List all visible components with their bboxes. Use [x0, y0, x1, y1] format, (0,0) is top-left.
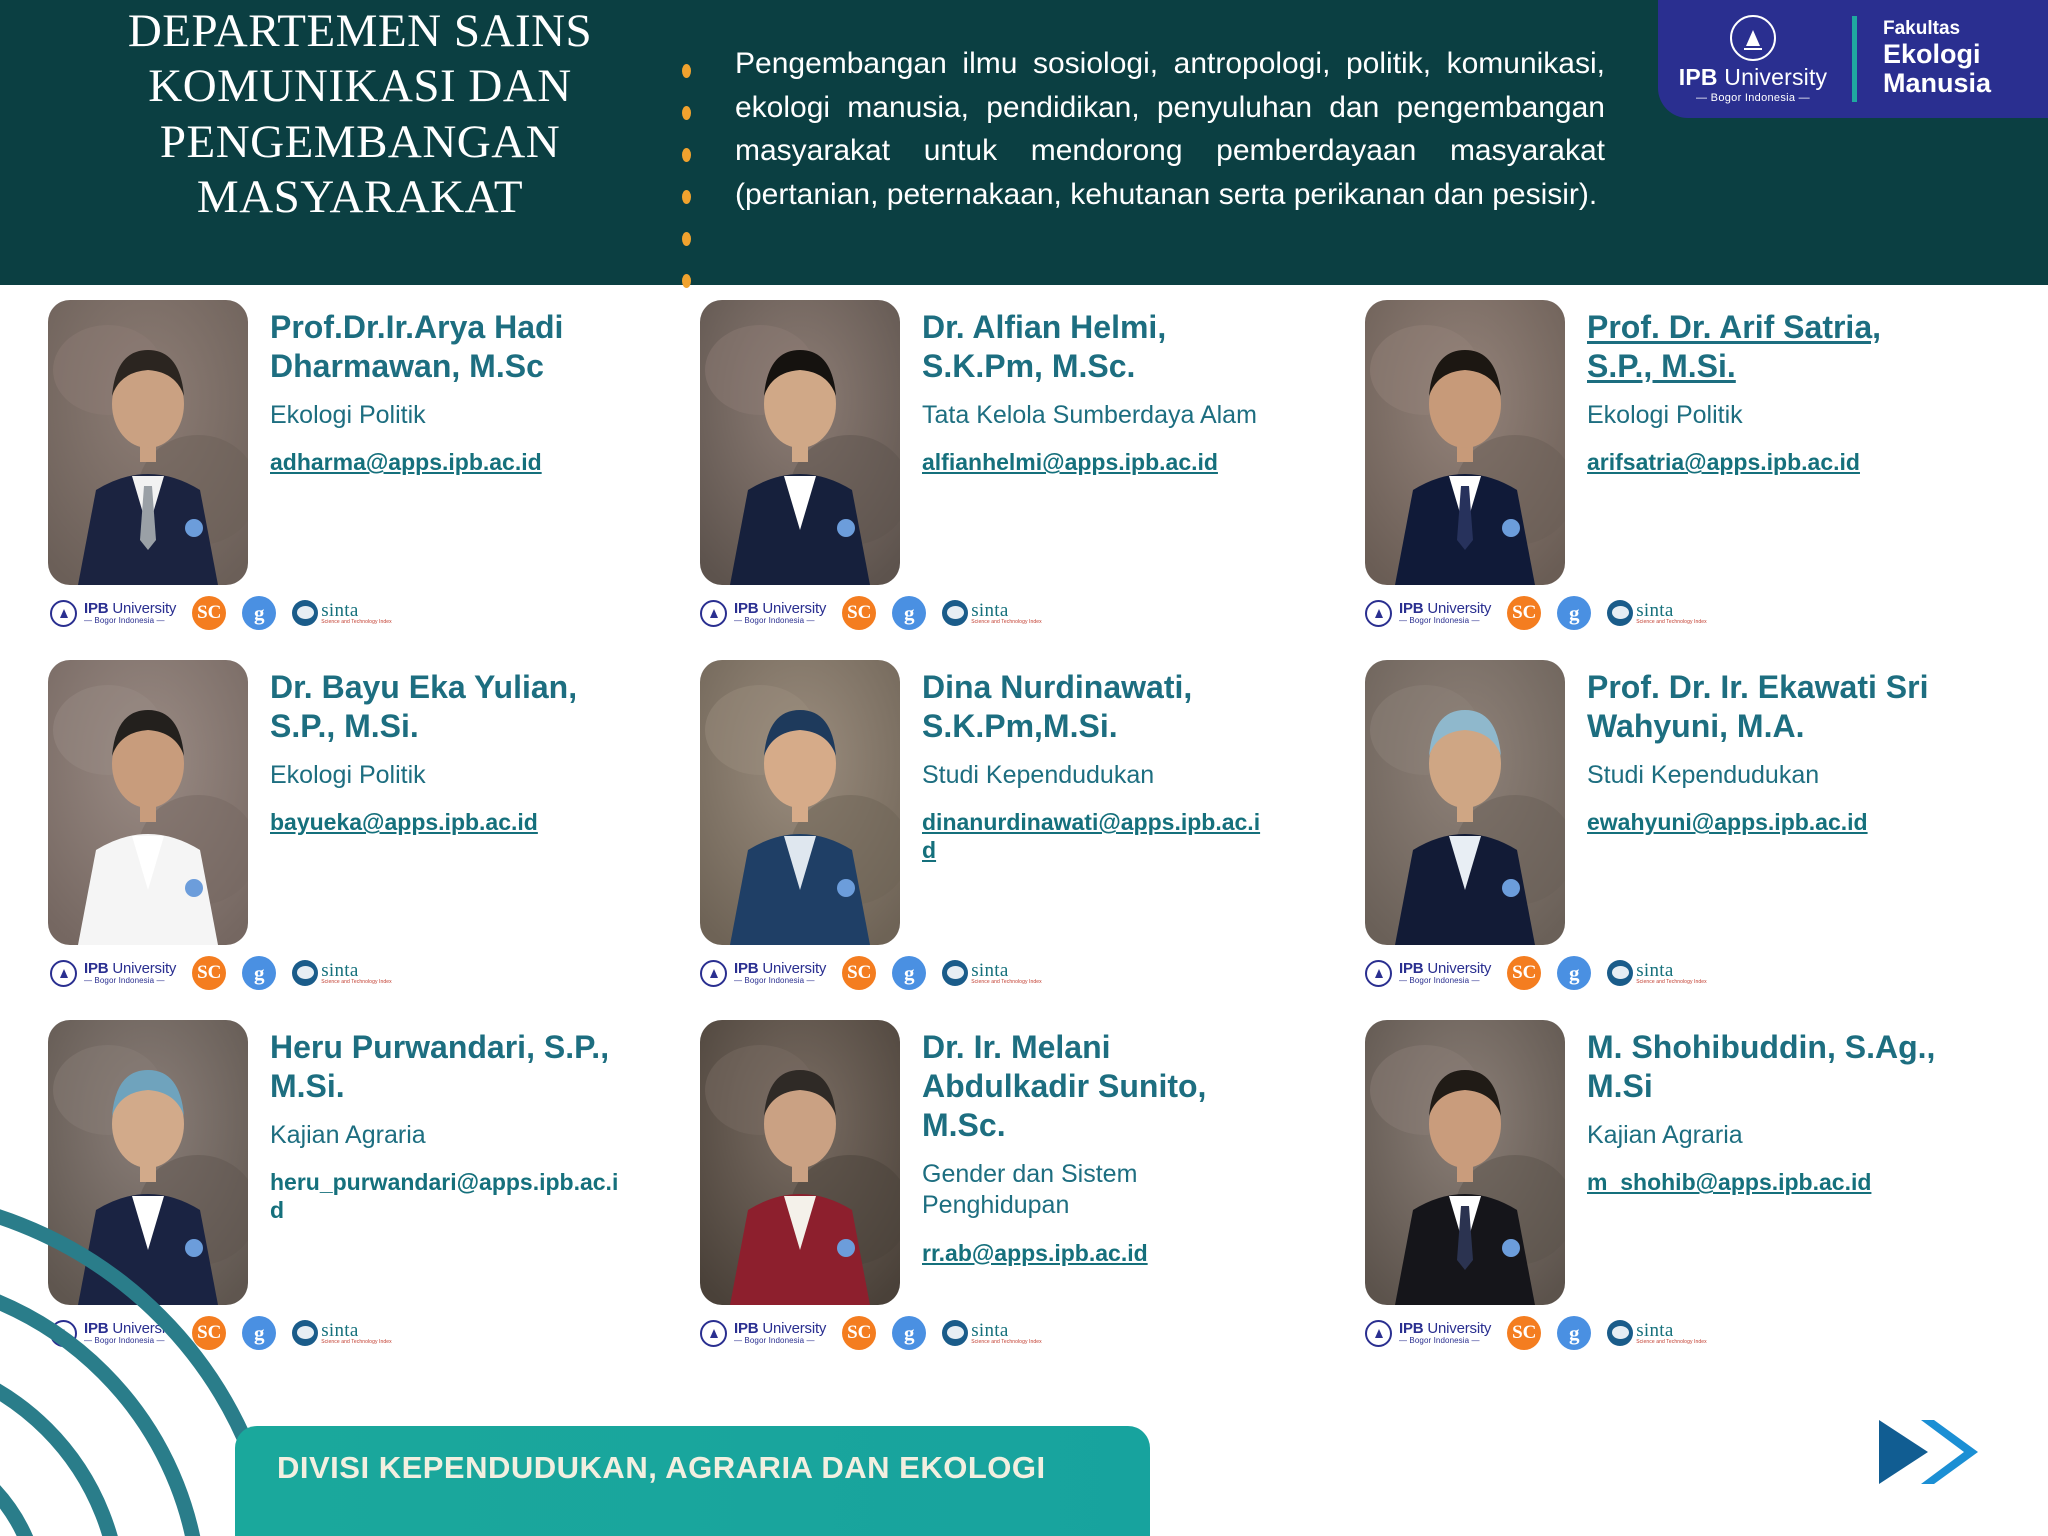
faculty-field: Kajian Agraria — [1587, 1120, 1937, 1151]
ipb-badge-bold: IPB — [1399, 960, 1423, 977]
page-title: DEPARTEMEN SAINS KOMUNIKASI DAN PENGEMBA… — [60, 4, 660, 226]
ipb-badge-bold: IPB — [1399, 600, 1423, 617]
bullet-dot-icon — [682, 64, 691, 78]
faculty-photo — [700, 660, 900, 945]
ipb-badge-sub: — Bogor Indonesia — — [734, 617, 826, 625]
faculty-email[interactable]: rr.ab@apps.ipb.ac.id — [922, 1240, 1272, 1268]
ipb-faculty-logo: IPB University — Bogor Indonesia — Fakul… — [1658, 0, 2048, 118]
faculty-card[interactable]: Dr. Bayu Eka Yulian, S.P., M.Si. Ekologi… — [48, 660, 620, 945]
faculty-row: Prof.Dr.Ir.Arya Hadi Dharmawan, M.Sc Eko… — [0, 300, 2048, 660]
double-arrow-icon — [1871, 1414, 1986, 1490]
sinta-sub: Science and Technology Index — [1636, 980, 1707, 985]
sinta-label: sinta — [321, 962, 392, 980]
faculty-name: Dr. Ir. Melani Abdulkadir Sunito, M.Sc. — [922, 1028, 1272, 1145]
google-scholar-icon[interactable]: g — [1557, 596, 1591, 630]
faculty-field: Studi Kependudukan — [922, 760, 1272, 791]
ipb-seal-icon — [700, 600, 727, 627]
profile-links: IPB University — Bogor Indonesia — SC g … — [50, 956, 392, 990]
ipb-badge-sub: — Bogor Indonesia — — [1399, 617, 1491, 625]
profile-links: IPB University — Bogor Indonesia — SC g … — [50, 596, 392, 630]
sinta-label: sinta — [321, 602, 392, 620]
ipb-seal-icon — [700, 1320, 727, 1347]
sinta-icon — [1607, 1320, 1633, 1346]
faculty-line-manusia: Manusia — [1883, 69, 1991, 99]
bullet-dot-icon — [682, 190, 691, 204]
sinta-icon — [1607, 600, 1633, 626]
ipb-seal-icon — [50, 600, 77, 627]
faculty-photo — [48, 300, 248, 585]
faculty-field: Ekologi Politik — [270, 760, 620, 791]
ipb-badge-light: University — [112, 600, 176, 617]
faculty-field: Tata Kelola Sumberdaya Alam — [922, 400, 1272, 431]
google-scholar-icon[interactable]: g — [892, 1316, 926, 1350]
ipb-badge-light: University — [1427, 1320, 1491, 1337]
bullet-dot-icon — [682, 148, 691, 162]
faculty-photo — [700, 300, 900, 585]
faculty-email[interactable]: alfianhelmi@apps.ipb.ac.id — [922, 449, 1272, 477]
sinta-icon — [942, 600, 968, 626]
sinta-link[interactable]: sinta Science and Technology Index — [1607, 600, 1707, 626]
sinta-link[interactable]: sinta Science and Technology Index — [292, 600, 392, 626]
faculty-name: Prof.Dr.Ir.Arya Hadi Dharmawan, M.Sc — [270, 308, 620, 386]
profile-links: IPB University — Bogor Indonesia — SC g … — [700, 956, 1042, 990]
profile-links: IPB University — Bogor Indonesia — SC g … — [700, 1316, 1042, 1350]
faculty-info: Dr. Alfian Helmi, S.K.Pm, M.Sc. Tata Kel… — [922, 300, 1272, 585]
ipb-badge-sub: — Bogor Indonesia — — [1399, 977, 1491, 985]
ipb-profile-link[interactable]: IPB University — Bogor Indonesia — — [50, 600, 176, 627]
ipb-badge-bold: IPB — [84, 600, 108, 617]
faculty-photo — [1365, 300, 1565, 585]
sinta-sub: Science and Technology Index — [1636, 1340, 1707, 1345]
bullet-list-markers — [682, 64, 691, 288]
faculty-field: Ekologi Politik — [270, 400, 620, 431]
ipb-university-name: IPB University — [1679, 64, 1828, 91]
faculty-card[interactable]: Prof.Dr.Ir.Arya Hadi Dharmawan, M.Sc Eko… — [48, 300, 620, 585]
sinta-link[interactable]: sinta Science and Technology Index — [942, 600, 1042, 626]
faculty-info: M. Shohibuddin, S.Ag., M.Si Kajian Agrar… — [1587, 1020, 1937, 1305]
faculty-field: Studi Kependudukan — [1587, 760, 1937, 791]
faculty-card[interactable]: Prof. Dr. Arif Satria, S.P., M.Si. Ekolo… — [1365, 300, 1937, 585]
division-banner: DIVISI KEPENDUDUKAN, AGRARIA DAN EKOLOGI — [235, 1426, 1150, 1536]
bullet-dot-icon — [682, 274, 691, 288]
sinta-icon — [292, 960, 318, 986]
profile-links: IPB University — Bogor Indonesia — SC g … — [1365, 596, 1707, 630]
ipb-profile-link[interactable]: IPB University — Bogor Indonesia — — [700, 1320, 826, 1347]
faculty-email[interactable]: adharma@apps.ipb.ac.id — [270, 449, 620, 477]
ipb-badge-bold: IPB — [734, 600, 758, 617]
scopus-icon[interactable]: SC — [1507, 956, 1541, 990]
sinta-sub: Science and Technology Index — [1636, 620, 1707, 625]
sinta-label: sinta — [971, 602, 1042, 620]
sinta-link[interactable]: sinta Science and Technology Index — [1607, 960, 1707, 986]
scopus-icon[interactable]: SC — [1507, 1316, 1541, 1350]
ipb-seal-icon — [1365, 960, 1392, 987]
ipb-badge-sub: — Bogor Indonesia — — [734, 977, 826, 985]
faculty-card[interactable]: Dina Nurdinawati, S.K.Pm,M.Si. Studi Kep… — [700, 660, 1272, 945]
google-scholar-icon[interactable]: g — [1557, 1316, 1591, 1350]
sinta-sub: Science and Technology Index — [971, 980, 1042, 985]
page-header: DEPARTEMEN SAINS KOMUNIKASI DAN PENGEMBA… — [0, 0, 2048, 285]
ipb-seal-icon — [1730, 15, 1776, 61]
faculty-name: Fakultas Ekologi Manusia — [1883, 19, 1991, 99]
profile-links: IPB University — Bogor Indonesia — SC g … — [1365, 956, 1707, 990]
ipb-profile-link[interactable]: IPB University — Bogor Indonesia — — [50, 960, 176, 987]
ipb-badge-bold: IPB — [84, 960, 108, 977]
ipb-profile-link[interactable]: IPB University — Bogor Indonesia — — [700, 600, 826, 627]
profile-links: IPB University — Bogor Indonesia — SC g … — [700, 596, 1042, 630]
google-scholar-icon[interactable]: g — [1557, 956, 1591, 990]
ipb-profile-link[interactable]: IPB University — Bogor Indonesia — — [1365, 600, 1491, 627]
ipb-university-tagline: — Bogor Indonesia — — [1696, 92, 1810, 104]
sinta-label: sinta — [1636, 1322, 1707, 1340]
faculty-name: Heru Purwandari, S.P., M.Si. — [270, 1028, 620, 1106]
faculty-email[interactable]: bayueka@apps.ipb.ac.id — [270, 809, 620, 837]
ipb-profile-link[interactable]: IPB University — Bogor Indonesia — — [1365, 960, 1491, 987]
ipb-seal-icon — [1365, 1320, 1392, 1347]
faculty-info: Prof.Dr.Ir.Arya Hadi Dharmawan, M.Sc Eko… — [270, 300, 620, 585]
ipb-profile-link[interactable]: IPB University — Bogor Indonesia — — [700, 960, 826, 987]
ipb-badge-light: University — [1427, 960, 1491, 977]
faculty-line-ekologi: Ekologi — [1883, 40, 1991, 70]
sinta-link[interactable]: sinta Science and Technology Index — [942, 1320, 1042, 1346]
faculty-card[interactable]: Prof. Dr. Ir. Ekawati Sri Wahyuni, M.A. … — [1365, 660, 1937, 945]
google-scholar-icon[interactable]: g — [892, 956, 926, 990]
google-scholar-icon[interactable]: g — [242, 596, 276, 630]
ipb-badge-light: University — [762, 600, 826, 617]
google-scholar-icon[interactable]: g — [892, 596, 926, 630]
ipb-badge-bold: IPB — [734, 1320, 758, 1337]
scopus-icon[interactable]: SC — [842, 596, 876, 630]
ipb-badge-light: University — [762, 1320, 826, 1337]
ipb-badge-sub: — Bogor Indonesia — — [84, 617, 176, 625]
faculty-card[interactable]: M. Shohibuddin, S.Ag., M.Si Kajian Agrar… — [1365, 1020, 1937, 1305]
sinta-sub: Science and Technology Index — [971, 620, 1042, 625]
sinta-label: sinta — [971, 1322, 1042, 1340]
faculty-info: Dr. Ir. Melani Abdulkadir Sunito, M.Sc. … — [922, 1020, 1272, 1305]
ipb-badge-light: University — [762, 960, 826, 977]
sinta-label: sinta — [1636, 602, 1707, 620]
sinta-icon — [1607, 960, 1633, 986]
sinta-icon — [292, 600, 318, 626]
sinta-label: sinta — [1636, 962, 1707, 980]
scopus-icon[interactable]: SC — [842, 1316, 876, 1350]
sinta-link[interactable]: sinta Science and Technology Index — [942, 960, 1042, 986]
sinta-sub: Science and Technology Index — [971, 1340, 1042, 1345]
faculty-name: Prof. Dr. Arif Satria, S.P., M.Si. — [1587, 308, 1937, 386]
infographic-page: DEPARTEMEN SAINS KOMUNIKASI DAN PENGEMBA… — [0, 0, 2048, 1536]
faculty-name: Dr. Bayu Eka Yulian, S.P., M.Si. — [270, 668, 620, 746]
faculty-card[interactable]: Dr. Ir. Melani Abdulkadir Sunito, M.Sc. … — [700, 1020, 1272, 1305]
scopus-icon[interactable]: SC — [1507, 596, 1541, 630]
faculty-label: Fakultas — [1883, 19, 1991, 40]
faculty-name: Dr. Alfian Helmi, S.K.Pm, M.Sc. — [922, 308, 1272, 386]
ipb-badge-sub: — Bogor Indonesia — — [84, 977, 176, 985]
ipb-badge-bold: IPB — [734, 960, 758, 977]
faculty-email[interactable]: ewahyuni@apps.ipb.ac.id — [1587, 809, 1937, 837]
faculty-email[interactable]: m_shohib@apps.ipb.ac.id — [1587, 1169, 1937, 1197]
profile-links: IPB University — Bogor Indonesia — SC g … — [1365, 1316, 1707, 1350]
faculty-name: Prof. Dr. Ir. Ekawati Sri Wahyuni, M.A. — [1587, 668, 1937, 746]
ipb-seal-icon — [50, 960, 77, 987]
faculty-info: Prof. Dr. Ir. Ekawati Sri Wahyuni, M.A. … — [1587, 660, 1937, 945]
ipb-badge-light: University — [112, 960, 176, 977]
bullet-dot-icon — [682, 232, 691, 246]
sinta-link[interactable]: sinta Science and Technology Index — [1607, 1320, 1707, 1346]
ipb-seal-icon — [1365, 600, 1392, 627]
scopus-icon[interactable]: SC — [192, 596, 226, 630]
sinta-link[interactable]: sinta Science and Technology Index — [292, 960, 392, 986]
department-description: Pengembangan ilmu sosiologi, antropologi… — [735, 42, 1605, 216]
google-scholar-icon[interactable]: g — [242, 956, 276, 990]
faculty-email[interactable]: dinanurdinawati@apps.ipb.ac.id — [922, 809, 1272, 864]
scopus-icon[interactable]: SC — [842, 956, 876, 990]
division-label: DIVISI KEPENDUDUKAN, AGRARIA DAN EKOLOGI — [277, 1448, 1150, 1488]
faculty-photo — [1365, 660, 1565, 945]
faculty-photo — [48, 660, 248, 945]
faculty-field: Ekologi Politik — [1587, 400, 1937, 431]
sinta-label: sinta — [971, 962, 1042, 980]
sinta-sub: Science and Technology Index — [321, 980, 392, 985]
faculty-photo — [1365, 1020, 1565, 1305]
logo-divider — [1852, 16, 1857, 102]
faculty-field: Kajian Agraria — [270, 1120, 620, 1151]
faculty-photo — [700, 1020, 900, 1305]
ipb-seal-icon — [700, 960, 727, 987]
sinta-icon — [942, 960, 968, 986]
faculty-info: Dina Nurdinawati, S.K.Pm,M.Si. Studi Kep… — [922, 660, 1272, 945]
ipb-badge-sub: — Bogor Indonesia — — [734, 1337, 826, 1345]
faculty-name: M. Shohibuddin, S.Ag., M.Si — [1587, 1028, 1937, 1106]
sinta-icon — [942, 1320, 968, 1346]
ipb-badge-light: University — [1427, 600, 1491, 617]
faculty-name: Dina Nurdinawati, S.K.Pm,M.Si. — [922, 668, 1272, 746]
faculty-email[interactable]: arifsatria@apps.ipb.ac.id — [1587, 449, 1937, 477]
faculty-info: Dr. Bayu Eka Yulian, S.P., M.Si. Ekologi… — [270, 660, 620, 945]
sinta-sub: Science and Technology Index — [321, 620, 392, 625]
faculty-info: Prof. Dr. Arif Satria, S.P., M.Si. Ekolo… — [1587, 300, 1937, 585]
faculty-card[interactable]: Dr. Alfian Helmi, S.K.Pm, M.Sc. Tata Kel… — [700, 300, 1272, 585]
scopus-icon[interactable]: SC — [192, 956, 226, 990]
bullet-dot-icon — [682, 106, 691, 120]
faculty-row: Dr. Bayu Eka Yulian, S.P., M.Si. Ekologi… — [0, 660, 2048, 1020]
ipb-badge-sub: — Bogor Indonesia — — [1399, 1337, 1491, 1345]
faculty-field: Gender dan Sistem Penghidupan — [922, 1159, 1272, 1222]
ipb-university-logo: IPB University — Bogor Indonesia — — [1658, 15, 1848, 104]
ipb-badge-bold: IPB — [1399, 1320, 1423, 1337]
ipb-profile-link[interactable]: IPB University — Bogor Indonesia — — [1365, 1320, 1491, 1347]
